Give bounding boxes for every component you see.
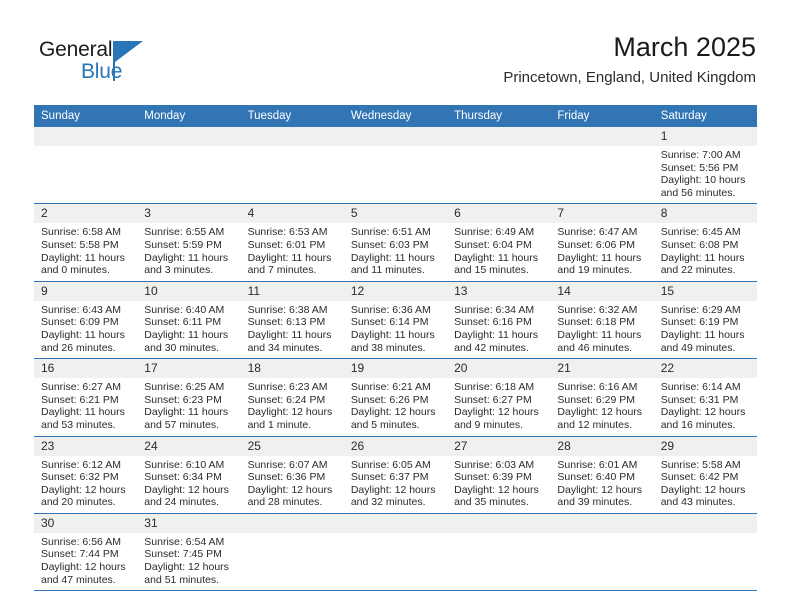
calendar-day-cell[interactable]: 22Sunrise: 6:14 AMSunset: 6:31 PMDayligh…	[654, 359, 757, 436]
day-number: 13	[447, 282, 550, 301]
day-cell-inner: 26Sunrise: 6:05 AMSunset: 6:37 PMDayligh…	[344, 437, 447, 513]
sunrise-time: Sunrise: 6:47 AM	[557, 226, 647, 239]
day-number: 22	[654, 359, 757, 378]
calendar-day-cell[interactable]: 12Sunrise: 6:36 AMSunset: 6:14 PMDayligh…	[344, 281, 447, 358]
sunset-time: Sunset: 6:13 PM	[248, 316, 338, 329]
day-sun-details: Sunrise: 6:29 AMSunset: 6:19 PMDaylight:…	[654, 301, 757, 358]
calendar-day-cell[interactable]: 13Sunrise: 6:34 AMSunset: 6:16 PMDayligh…	[447, 281, 550, 358]
day-sun-details: Sunrise: 6:03 AMSunset: 6:39 PMDaylight:…	[447, 456, 550, 513]
day-number: 10	[137, 282, 240, 301]
sunset-time: Sunset: 6:36 PM	[248, 471, 338, 484]
daylight-duration-line2: and 39 minutes.	[557, 496, 647, 509]
sunrise-sunset-calendar-table: Sunday Monday Tuesday Wednesday Thursday…	[34, 105, 757, 591]
sunrise-time: Sunrise: 5:58 AM	[661, 459, 751, 472]
sunset-time: Sunset: 6:39 PM	[454, 471, 544, 484]
sunrise-time: Sunrise: 6:18 AM	[454, 381, 544, 394]
day-cell-inner	[241, 514, 344, 590]
sunset-time: Sunset: 7:44 PM	[41, 548, 131, 561]
daylight-duration-line2: and 16 minutes.	[661, 419, 751, 432]
sunrise-time: Sunrise: 6:32 AM	[557, 304, 647, 317]
sunrise-time: Sunrise: 6:55 AM	[144, 226, 234, 239]
sunset-time: Sunset: 6:32 PM	[41, 471, 131, 484]
calendar-week-row: 2Sunrise: 6:58 AMSunset: 5:58 PMDaylight…	[34, 204, 757, 281]
sunset-time: Sunset: 6:31 PM	[661, 394, 751, 407]
sunrise-time: Sunrise: 6:03 AM	[454, 459, 544, 472]
daylight-duration-line2: and 56 minutes.	[661, 187, 751, 200]
sunrise-time: Sunrise: 6:56 AM	[41, 536, 131, 549]
sunset-time: Sunset: 6:11 PM	[144, 316, 234, 329]
day-cell-inner: 29Sunrise: 5:58 AMSunset: 6:42 PMDayligh…	[654, 437, 757, 513]
daylight-duration-line2: and 35 minutes.	[454, 496, 544, 509]
daylight-duration-line2: and 5 minutes.	[351, 419, 441, 432]
calendar-day-cell-empty	[344, 127, 447, 204]
day-cell-inner	[137, 127, 240, 203]
page-title: March 2025	[503, 31, 756, 63]
weekday-header-monday: Monday	[137, 105, 240, 127]
calendar-day-cell[interactable]: 26Sunrise: 6:05 AMSunset: 6:37 PMDayligh…	[344, 436, 447, 513]
daylight-duration-line1: Daylight: 11 hours	[661, 252, 751, 265]
day-sun-details: Sunrise: 6:25 AMSunset: 6:23 PMDaylight:…	[137, 378, 240, 435]
day-cell-inner: 31Sunrise: 6:54 AMSunset: 7:45 PMDayligh…	[137, 514, 240, 590]
day-number	[344, 127, 447, 146]
sunrise-time: Sunrise: 6:36 AM	[351, 304, 441, 317]
day-number: 12	[344, 282, 447, 301]
daylight-duration-line2: and 47 minutes.	[41, 574, 131, 587]
daylight-duration-line1: Daylight: 11 hours	[557, 329, 647, 342]
daylight-duration-line2: and 43 minutes.	[661, 496, 751, 509]
calendar-day-cell[interactable]: 15Sunrise: 6:29 AMSunset: 6:19 PMDayligh…	[654, 281, 757, 358]
daylight-duration-line1: Daylight: 12 hours	[661, 406, 751, 419]
daylight-duration-line2: and 49 minutes.	[661, 342, 751, 355]
sunset-time: Sunset: 5:59 PM	[144, 239, 234, 252]
weekday-header-sunday: Sunday	[34, 105, 137, 127]
day-cell-inner: 30Sunrise: 6:56 AMSunset: 7:44 PMDayligh…	[34, 514, 137, 590]
calendar-day-cell-empty	[654, 513, 757, 590]
day-number: 3	[137, 204, 240, 223]
day-number	[344, 514, 447, 533]
day-cell-inner: 22Sunrise: 6:14 AMSunset: 6:31 PMDayligh…	[654, 359, 757, 435]
calendar-day-cell[interactable]: 21Sunrise: 6:16 AMSunset: 6:29 PMDayligh…	[550, 359, 653, 436]
day-cell-inner	[654, 514, 757, 590]
sunset-time: Sunset: 6:19 PM	[661, 316, 751, 329]
day-sun-details: Sunrise: 6:55 AMSunset: 5:59 PMDaylight:…	[137, 223, 240, 280]
daylight-duration-line1: Daylight: 11 hours	[248, 252, 338, 265]
calendar-day-cell[interactable]: 20Sunrise: 6:18 AMSunset: 6:27 PMDayligh…	[447, 359, 550, 436]
daylight-duration-line2: and 53 minutes.	[41, 419, 131, 432]
sunrise-time: Sunrise: 6:21 AM	[351, 381, 441, 394]
sunrise-time: Sunrise: 6:54 AM	[144, 536, 234, 549]
sunset-time: Sunset: 6:34 PM	[144, 471, 234, 484]
calendar-day-cell[interactable]: 4Sunrise: 6:53 AMSunset: 6:01 PMDaylight…	[241, 204, 344, 281]
calendar-day-cell[interactable]: 29Sunrise: 5:58 AMSunset: 6:42 PMDayligh…	[654, 436, 757, 513]
daylight-duration-line2: and 0 minutes.	[41, 264, 131, 277]
daylight-duration-line1: Daylight: 11 hours	[41, 252, 131, 265]
sunset-time: Sunset: 6:29 PM	[557, 394, 647, 407]
sunrise-time: Sunrise: 6:38 AM	[248, 304, 338, 317]
day-cell-inner: 8Sunrise: 6:45 AMSunset: 6:08 PMDaylight…	[654, 204, 757, 280]
calendar-day-cell[interactable]: 18Sunrise: 6:23 AMSunset: 6:24 PMDayligh…	[241, 359, 344, 436]
day-cell-inner: 13Sunrise: 6:34 AMSunset: 6:16 PMDayligh…	[447, 282, 550, 358]
day-cell-inner: 2Sunrise: 6:58 AMSunset: 5:58 PMDaylight…	[34, 204, 137, 280]
day-cell-inner: 18Sunrise: 6:23 AMSunset: 6:24 PMDayligh…	[241, 359, 344, 435]
sunrise-time: Sunrise: 6:23 AM	[248, 381, 338, 394]
day-cell-inner: 10Sunrise: 6:40 AMSunset: 6:11 PMDayligh…	[137, 282, 240, 358]
day-number	[550, 127, 653, 146]
day-sun-details: Sunrise: 6:45 AMSunset: 6:08 PMDaylight:…	[654, 223, 757, 280]
daylight-duration-line2: and 51 minutes.	[144, 574, 234, 587]
daylight-duration-line2: and 38 minutes.	[351, 342, 441, 355]
daylight-duration-line2: and 24 minutes.	[144, 496, 234, 509]
sunset-time: Sunset: 5:56 PM	[661, 162, 751, 175]
sunrise-time: Sunrise: 6:16 AM	[557, 381, 647, 394]
calendar-day-cell-empty	[241, 127, 344, 204]
day-cell-inner: 23Sunrise: 6:12 AMSunset: 6:32 PMDayligh…	[34, 437, 137, 513]
logo-triangle-icon	[115, 41, 143, 62]
daylight-duration-line2: and 22 minutes.	[661, 264, 751, 277]
daylight-duration-line2: and 34 minutes.	[248, 342, 338, 355]
day-sun-details: Sunrise: 6:38 AMSunset: 6:13 PMDaylight:…	[241, 301, 344, 358]
day-cell-inner	[447, 514, 550, 590]
daylight-duration-line1: Daylight: 12 hours	[248, 484, 338, 497]
day-cell-inner: 20Sunrise: 6:18 AMSunset: 6:27 PMDayligh…	[447, 359, 550, 435]
daylight-duration-line2: and 30 minutes.	[144, 342, 234, 355]
daylight-duration-line2: and 9 minutes.	[454, 419, 544, 432]
sunrise-time: Sunrise: 6:25 AM	[144, 381, 234, 394]
calendar-day-cell[interactable]: 11Sunrise: 6:38 AMSunset: 6:13 PMDayligh…	[241, 281, 344, 358]
daylight-duration-line2: and 19 minutes.	[557, 264, 647, 277]
day-cell-inner: 1Sunrise: 7:00 AMSunset: 5:56 PMDaylight…	[654, 127, 757, 203]
daylight-duration-line1: Daylight: 10 hours	[661, 174, 751, 187]
daylight-duration-line1: Daylight: 12 hours	[41, 561, 131, 574]
calendar-week-row: 16Sunrise: 6:27 AMSunset: 6:21 PMDayligh…	[34, 359, 757, 436]
daylight-duration-line1: Daylight: 12 hours	[41, 484, 131, 497]
calendar-day-cell[interactable]: 10Sunrise: 6:40 AMSunset: 6:11 PMDayligh…	[137, 281, 240, 358]
daylight-duration-line1: Daylight: 12 hours	[557, 484, 647, 497]
daylight-duration-line1: Daylight: 11 hours	[41, 329, 131, 342]
day-sun-details: Sunrise: 6:58 AMSunset: 5:58 PMDaylight:…	[34, 223, 137, 280]
day-sun-details: Sunrise: 6:54 AMSunset: 7:45 PMDaylight:…	[137, 533, 240, 590]
daylight-duration-line1: Daylight: 12 hours	[454, 406, 544, 419]
day-cell-inner	[447, 127, 550, 203]
day-cell-inner	[344, 127, 447, 203]
day-number	[34, 127, 137, 146]
day-number: 4	[241, 204, 344, 223]
sunset-time: Sunset: 6:27 PM	[454, 394, 544, 407]
calendar-day-cell[interactable]: 3Sunrise: 6:55 AMSunset: 5:59 PMDaylight…	[137, 204, 240, 281]
sunrise-time: Sunrise: 6:40 AM	[144, 304, 234, 317]
calendar-day-cell[interactable]: 1Sunrise: 7:00 AMSunset: 5:56 PMDaylight…	[654, 127, 757, 204]
day-sun-details: Sunrise: 6:14 AMSunset: 6:31 PMDaylight:…	[654, 378, 757, 435]
daylight-duration-line1: Daylight: 12 hours	[351, 484, 441, 497]
sunset-time: Sunset: 5:58 PM	[41, 239, 131, 252]
daylight-duration-line1: Daylight: 12 hours	[144, 484, 234, 497]
day-cell-inner: 6Sunrise: 6:49 AMSunset: 6:04 PMDaylight…	[447, 204, 550, 280]
day-sun-details: Sunrise: 6:01 AMSunset: 6:40 PMDaylight:…	[550, 456, 653, 513]
day-number: 25	[241, 437, 344, 456]
daylight-duration-line1: Daylight: 11 hours	[144, 252, 234, 265]
day-sun-details: Sunrise: 6:05 AMSunset: 6:37 PMDaylight:…	[344, 456, 447, 513]
daylight-duration-line1: Daylight: 11 hours	[144, 406, 234, 419]
calendar-week-row: 30Sunrise: 6:56 AMSunset: 7:44 PMDayligh…	[34, 513, 757, 590]
day-number: 19	[344, 359, 447, 378]
sunset-time: Sunset: 6:03 PM	[351, 239, 441, 252]
day-number: 15	[654, 282, 757, 301]
sunset-time: Sunset: 6:16 PM	[454, 316, 544, 329]
sunset-time: Sunset: 6:01 PM	[248, 239, 338, 252]
day-sun-details: Sunrise: 6:40 AMSunset: 6:11 PMDaylight:…	[137, 301, 240, 358]
day-number: 16	[34, 359, 137, 378]
daylight-duration-line2: and 15 minutes.	[454, 264, 544, 277]
day-number	[447, 514, 550, 533]
day-cell-inner	[344, 514, 447, 590]
calendar-day-cell-empty	[34, 127, 137, 204]
day-sun-details: Sunrise: 5:58 AMSunset: 6:42 PMDaylight:…	[654, 456, 757, 513]
daylight-duration-line2: and 12 minutes.	[557, 419, 647, 432]
daylight-duration-line2: and 11 minutes.	[351, 264, 441, 277]
daylight-duration-line1: Daylight: 12 hours	[248, 406, 338, 419]
calendar-header-row: Sunday Monday Tuesday Wednesday Thursday…	[34, 105, 757, 127]
day-number: 27	[447, 437, 550, 456]
day-sun-details: Sunrise: 6:21 AMSunset: 6:26 PMDaylight:…	[344, 378, 447, 435]
day-sun-details: Sunrise: 7:00 AMSunset: 5:56 PMDaylight:…	[654, 146, 757, 203]
page-subtitle: Princetown, England, United Kingdom	[503, 68, 756, 88]
calendar-day-cell[interactable]: 19Sunrise: 6:21 AMSunset: 6:26 PMDayligh…	[344, 359, 447, 436]
title-block: March 2025 Princetown, England, United K…	[503, 31, 756, 88]
calendar-week-row: 9Sunrise: 6:43 AMSunset: 6:09 PMDaylight…	[34, 281, 757, 358]
day-cell-inner: 24Sunrise: 6:10 AMSunset: 6:34 PMDayligh…	[137, 437, 240, 513]
daylight-duration-line2: and 28 minutes.	[248, 496, 338, 509]
day-number: 6	[447, 204, 550, 223]
day-cell-inner: 11Sunrise: 6:38 AMSunset: 6:13 PMDayligh…	[241, 282, 344, 358]
daylight-duration-line2: and 20 minutes.	[41, 496, 131, 509]
day-number: 30	[34, 514, 137, 533]
day-number: 5	[344, 204, 447, 223]
day-number: 31	[137, 514, 240, 533]
day-cell-inner: 3Sunrise: 6:55 AMSunset: 5:59 PMDaylight…	[137, 204, 240, 280]
day-number: 18	[241, 359, 344, 378]
weekday-header-saturday: Saturday	[654, 105, 757, 127]
sunset-time: Sunset: 7:45 PM	[144, 548, 234, 561]
day-number: 24	[137, 437, 240, 456]
day-sun-details: Sunrise: 6:07 AMSunset: 6:36 PMDaylight:…	[241, 456, 344, 513]
calendar-day-cell[interactable]: 2Sunrise: 6:58 AMSunset: 5:58 PMDaylight…	[34, 204, 137, 281]
day-cell-inner	[34, 127, 137, 203]
day-cell-inner: 12Sunrise: 6:36 AMSunset: 6:14 PMDayligh…	[344, 282, 447, 358]
day-number: 17	[137, 359, 240, 378]
daylight-duration-line1: Daylight: 12 hours	[144, 561, 234, 574]
day-sun-details: Sunrise: 6:53 AMSunset: 6:01 PMDaylight:…	[241, 223, 344, 280]
daylight-duration-line1: Daylight: 11 hours	[144, 329, 234, 342]
day-number: 7	[550, 204, 653, 223]
day-cell-inner	[550, 127, 653, 203]
calendar-day-cell[interactable]: 31Sunrise: 6:54 AMSunset: 7:45 PMDayligh…	[137, 513, 240, 590]
day-cell-inner: 19Sunrise: 6:21 AMSunset: 6:26 PMDayligh…	[344, 359, 447, 435]
calendar-day-cell[interactable]: 23Sunrise: 6:12 AMSunset: 6:32 PMDayligh…	[34, 436, 137, 513]
day-number: 23	[34, 437, 137, 456]
sunset-time: Sunset: 6:26 PM	[351, 394, 441, 407]
day-number: 26	[344, 437, 447, 456]
calendar-body: 1Sunrise: 7:00 AMSunset: 5:56 PMDaylight…	[34, 127, 757, 591]
sunset-time: Sunset: 6:37 PM	[351, 471, 441, 484]
day-number: 14	[550, 282, 653, 301]
sunrise-time: Sunrise: 6:01 AM	[557, 459, 647, 472]
calendar-day-cell-empty	[550, 513, 653, 590]
calendar-day-cell[interactable]: 27Sunrise: 6:03 AMSunset: 6:39 PMDayligh…	[447, 436, 550, 513]
logo-text-general: General	[39, 38, 112, 62]
day-cell-inner: 4Sunrise: 6:53 AMSunset: 6:01 PMDaylight…	[241, 204, 344, 280]
day-number	[137, 127, 240, 146]
day-cell-inner: 16Sunrise: 6:27 AMSunset: 6:21 PMDayligh…	[34, 359, 137, 435]
daylight-duration-line1: Daylight: 11 hours	[351, 329, 441, 342]
daylight-duration-line2: and 42 minutes.	[454, 342, 544, 355]
calendar-week-row: 1Sunrise: 7:00 AMSunset: 5:56 PMDaylight…	[34, 127, 757, 204]
calendar-day-cell[interactable]: 16Sunrise: 6:27 AMSunset: 6:21 PMDayligh…	[34, 359, 137, 436]
daylight-duration-line2: and 7 minutes.	[248, 264, 338, 277]
calendar-day-cell[interactable]: 25Sunrise: 6:07 AMSunset: 6:36 PMDayligh…	[241, 436, 344, 513]
calendar-day-cell-empty	[447, 513, 550, 590]
sunrise-time: Sunrise: 6:10 AM	[144, 459, 234, 472]
calendar-day-cell[interactable]: 17Sunrise: 6:25 AMSunset: 6:23 PMDayligh…	[137, 359, 240, 436]
day-cell-inner: 21Sunrise: 6:16 AMSunset: 6:29 PMDayligh…	[550, 359, 653, 435]
sunset-time: Sunset: 6:18 PM	[557, 316, 647, 329]
day-sun-details: Sunrise: 6:27 AMSunset: 6:21 PMDaylight:…	[34, 378, 137, 435]
daylight-duration-line2: and 32 minutes.	[351, 496, 441, 509]
day-cell-inner: 25Sunrise: 6:07 AMSunset: 6:36 PMDayligh…	[241, 437, 344, 513]
weekday-header-friday: Friday	[550, 105, 653, 127]
day-number	[241, 514, 344, 533]
sunrise-time: Sunrise: 6:45 AM	[661, 226, 751, 239]
daylight-duration-line2: and 26 minutes.	[41, 342, 131, 355]
sunrise-time: Sunrise: 6:43 AM	[41, 304, 131, 317]
sunset-time: Sunset: 6:04 PM	[454, 239, 544, 252]
day-cell-inner: 9Sunrise: 6:43 AMSunset: 6:09 PMDaylight…	[34, 282, 137, 358]
sunrise-time: Sunrise: 6:14 AM	[661, 381, 751, 394]
day-sun-details: Sunrise: 6:51 AMSunset: 6:03 PMDaylight:…	[344, 223, 447, 280]
sunrise-time: Sunrise: 6:12 AM	[41, 459, 131, 472]
daylight-duration-line1: Daylight: 11 hours	[454, 329, 544, 342]
calendar-page: General Blue March 2025 Princetown, Engl…	[0, 0, 792, 612]
daylight-duration-line1: Daylight: 11 hours	[557, 252, 647, 265]
calendar-day-cell-empty	[137, 127, 240, 204]
day-number: 20	[447, 359, 550, 378]
day-cell-inner: 5Sunrise: 6:51 AMSunset: 6:03 PMDaylight…	[344, 204, 447, 280]
daylight-duration-line1: Daylight: 11 hours	[41, 406, 131, 419]
day-sun-details: Sunrise: 6:23 AMSunset: 6:24 PMDaylight:…	[241, 378, 344, 435]
daylight-duration-line2: and 3 minutes.	[144, 264, 234, 277]
day-sun-details: Sunrise: 6:32 AMSunset: 6:18 PMDaylight:…	[550, 301, 653, 358]
day-sun-details: Sunrise: 6:49 AMSunset: 6:04 PMDaylight:…	[447, 223, 550, 280]
day-number: 9	[34, 282, 137, 301]
sunrise-time: Sunrise: 6:49 AM	[454, 226, 544, 239]
calendar-day-cell[interactable]: 7Sunrise: 6:47 AMSunset: 6:06 PMDaylight…	[550, 204, 653, 281]
weekday-header-tuesday: Tuesday	[241, 105, 344, 127]
calendar-day-cell[interactable]: 24Sunrise: 6:10 AMSunset: 6:34 PMDayligh…	[137, 436, 240, 513]
sunset-time: Sunset: 6:08 PM	[661, 239, 751, 252]
day-cell-inner	[550, 514, 653, 590]
logo-text-blue: Blue	[81, 60, 122, 84]
day-sun-details: Sunrise: 6:10 AMSunset: 6:34 PMDaylight:…	[137, 456, 240, 513]
calendar-day-cell[interactable]: 5Sunrise: 6:51 AMSunset: 6:03 PMDaylight…	[344, 204, 447, 281]
day-cell-inner	[241, 127, 344, 203]
calendar-day-cell-empty	[447, 127, 550, 204]
day-sun-details: Sunrise: 6:36 AMSunset: 6:14 PMDaylight:…	[344, 301, 447, 358]
calendar-day-cell-empty	[550, 127, 653, 204]
day-number: 1	[654, 127, 757, 146]
daylight-duration-line2: and 1 minute.	[248, 419, 338, 432]
calendar-day-cell[interactable]: 8Sunrise: 6:45 AMSunset: 6:08 PMDaylight…	[654, 204, 757, 281]
daylight-duration-line1: Daylight: 11 hours	[661, 329, 751, 342]
day-number	[654, 514, 757, 533]
page-header: General Blue March 2025 Princetown, Engl…	[0, 0, 792, 100]
sunrise-time: Sunrise: 6:34 AM	[454, 304, 544, 317]
sunrise-time: Sunrise: 6:07 AM	[248, 459, 338, 472]
sunrise-time: Sunrise: 6:51 AM	[351, 226, 441, 239]
calendar-day-cell[interactable]: 30Sunrise: 6:56 AMSunset: 7:44 PMDayligh…	[34, 513, 137, 590]
day-number	[550, 514, 653, 533]
day-cell-inner: 7Sunrise: 6:47 AMSunset: 6:06 PMDaylight…	[550, 204, 653, 280]
weekday-header-wednesday: Wednesday	[344, 105, 447, 127]
day-number: 8	[654, 204, 757, 223]
weekday-header-thursday: Thursday	[447, 105, 550, 127]
calendar-day-cell-empty	[344, 513, 447, 590]
day-number	[447, 127, 550, 146]
day-sun-details: Sunrise: 6:43 AMSunset: 6:09 PMDaylight:…	[34, 301, 137, 358]
sunrise-time: Sunrise: 6:05 AM	[351, 459, 441, 472]
day-number: 29	[654, 437, 757, 456]
sunrise-time: Sunrise: 7:00 AM	[661, 149, 751, 162]
sunset-time: Sunset: 6:21 PM	[41, 394, 131, 407]
day-cell-inner: 27Sunrise: 6:03 AMSunset: 6:39 PMDayligh…	[447, 437, 550, 513]
daylight-duration-line1: Daylight: 11 hours	[351, 252, 441, 265]
day-number: 2	[34, 204, 137, 223]
sunset-time: Sunset: 6:06 PM	[557, 239, 647, 252]
calendar-day-cell[interactable]: 9Sunrise: 6:43 AMSunset: 6:09 PMDaylight…	[34, 281, 137, 358]
day-sun-details: Sunrise: 6:34 AMSunset: 6:16 PMDaylight:…	[447, 301, 550, 358]
general-blue-logo[interactable]: General Blue	[39, 38, 169, 90]
sunrise-time: Sunrise: 6:58 AM	[41, 226, 131, 239]
sunset-time: Sunset: 6:40 PM	[557, 471, 647, 484]
daylight-duration-line2: and 57 minutes.	[144, 419, 234, 432]
daylight-duration-line2: and 46 minutes.	[557, 342, 647, 355]
day-sun-details: Sunrise: 6:12 AMSunset: 6:32 PMDaylight:…	[34, 456, 137, 513]
daylight-duration-line1: Daylight: 11 hours	[454, 252, 544, 265]
day-sun-details: Sunrise: 6:18 AMSunset: 6:27 PMDaylight:…	[447, 378, 550, 435]
calendar-day-cell[interactable]: 28Sunrise: 6:01 AMSunset: 6:40 PMDayligh…	[550, 436, 653, 513]
day-number: 21	[550, 359, 653, 378]
calendar-day-cell[interactable]: 14Sunrise: 6:32 AMSunset: 6:18 PMDayligh…	[550, 281, 653, 358]
calendar-week-row: 23Sunrise: 6:12 AMSunset: 6:32 PMDayligh…	[34, 436, 757, 513]
day-cell-inner: 15Sunrise: 6:29 AMSunset: 6:19 PMDayligh…	[654, 282, 757, 358]
day-number	[241, 127, 344, 146]
sunrise-time: Sunrise: 6:53 AM	[248, 226, 338, 239]
day-cell-inner: 17Sunrise: 6:25 AMSunset: 6:23 PMDayligh…	[137, 359, 240, 435]
day-cell-inner: 14Sunrise: 6:32 AMSunset: 6:18 PMDayligh…	[550, 282, 653, 358]
calendar-day-cell[interactable]: 6Sunrise: 6:49 AMSunset: 6:04 PMDaylight…	[447, 204, 550, 281]
daylight-duration-line1: Daylight: 12 hours	[351, 406, 441, 419]
daylight-duration-line1: Daylight: 12 hours	[661, 484, 751, 497]
sunrise-time: Sunrise: 6:27 AM	[41, 381, 131, 394]
day-sun-details: Sunrise: 6:47 AMSunset: 6:06 PMDaylight:…	[550, 223, 653, 280]
daylight-duration-line1: Daylight: 11 hours	[248, 329, 338, 342]
sunset-time: Sunset: 6:09 PM	[41, 316, 131, 329]
day-cell-inner: 28Sunrise: 6:01 AMSunset: 6:40 PMDayligh…	[550, 437, 653, 513]
daylight-duration-line1: Daylight: 12 hours	[454, 484, 544, 497]
sunset-time: Sunset: 6:23 PM	[144, 394, 234, 407]
calendar-day-cell-empty	[241, 513, 344, 590]
day-sun-details: Sunrise: 6:56 AMSunset: 7:44 PMDaylight:…	[34, 533, 137, 590]
sunset-time: Sunset: 6:14 PM	[351, 316, 441, 329]
sunrise-time: Sunrise: 6:29 AM	[661, 304, 751, 317]
